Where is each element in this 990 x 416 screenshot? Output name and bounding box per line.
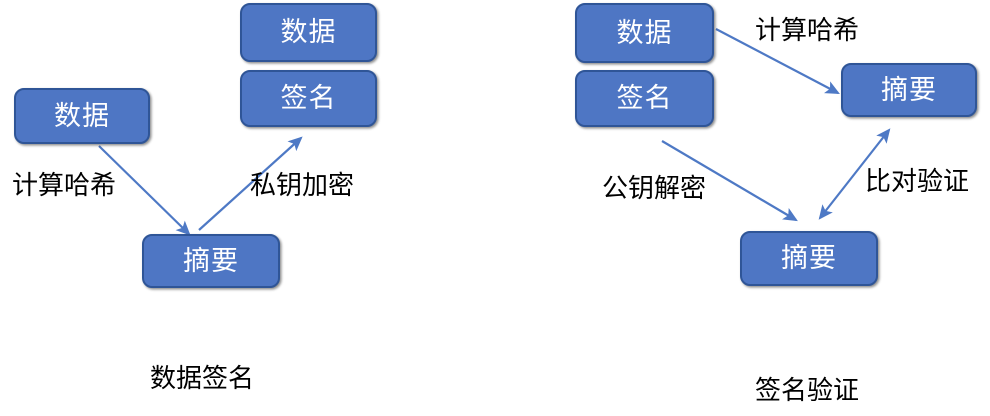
box-label: 签名 — [617, 85, 673, 112]
label-left-private-key-encrypt: 私钥加密 — [250, 173, 354, 199]
caption-right-panel: 签名验证 — [755, 378, 859, 404]
box-label: 数据 — [54, 103, 110, 130]
box-label: 摘要 — [781, 245, 837, 272]
box-right-signature-input[interactable]: 签名 — [575, 70, 714, 127]
box-left-signature-output[interactable]: 签名 — [240, 70, 377, 127]
right-panel-signature-verification: 数据 签名 摘要 摘要 计算哈希 公钥解密 比对验证 签名验证 — [495, 0, 990, 416]
box-label: 数据 — [617, 20, 673, 47]
box-left-digest[interactable]: 摘要 — [142, 234, 280, 288]
signature-flow-diagram: 数据 数据 签名 摘要 计算哈希 私钥加密 数据签名 数据 签名 摘要 摘要 计… — [0, 0, 990, 416]
caption-left-panel: 数据签名 — [150, 366, 254, 392]
left-panel-data-signing: 数据 数据 签名 摘要 计算哈希 私钥加密 数据签名 — [0, 0, 495, 416]
box-right-digest-computed[interactable]: 摘要 — [841, 63, 977, 117]
box-left-data-source[interactable]: 数据 — [14, 88, 150, 144]
label-right-compare-verify: 比对验证 — [865, 169, 969, 195]
box-left-data-output[interactable]: 数据 — [240, 3, 377, 62]
box-label: 签名 — [281, 85, 337, 112]
label-right-hash: 计算哈希 — [755, 18, 859, 44]
box-right-data-input[interactable]: 数据 — [575, 3, 714, 63]
box-label: 数据 — [281, 19, 337, 46]
label-left-hash: 计算哈希 — [12, 173, 116, 199]
box-right-digest-decrypted[interactable]: 摘要 — [740, 231, 878, 286]
box-label: 摘要 — [881, 77, 937, 104]
box-label: 摘要 — [183, 248, 239, 275]
label-right-public-key-decrypt: 公钥解密 — [602, 176, 706, 202]
